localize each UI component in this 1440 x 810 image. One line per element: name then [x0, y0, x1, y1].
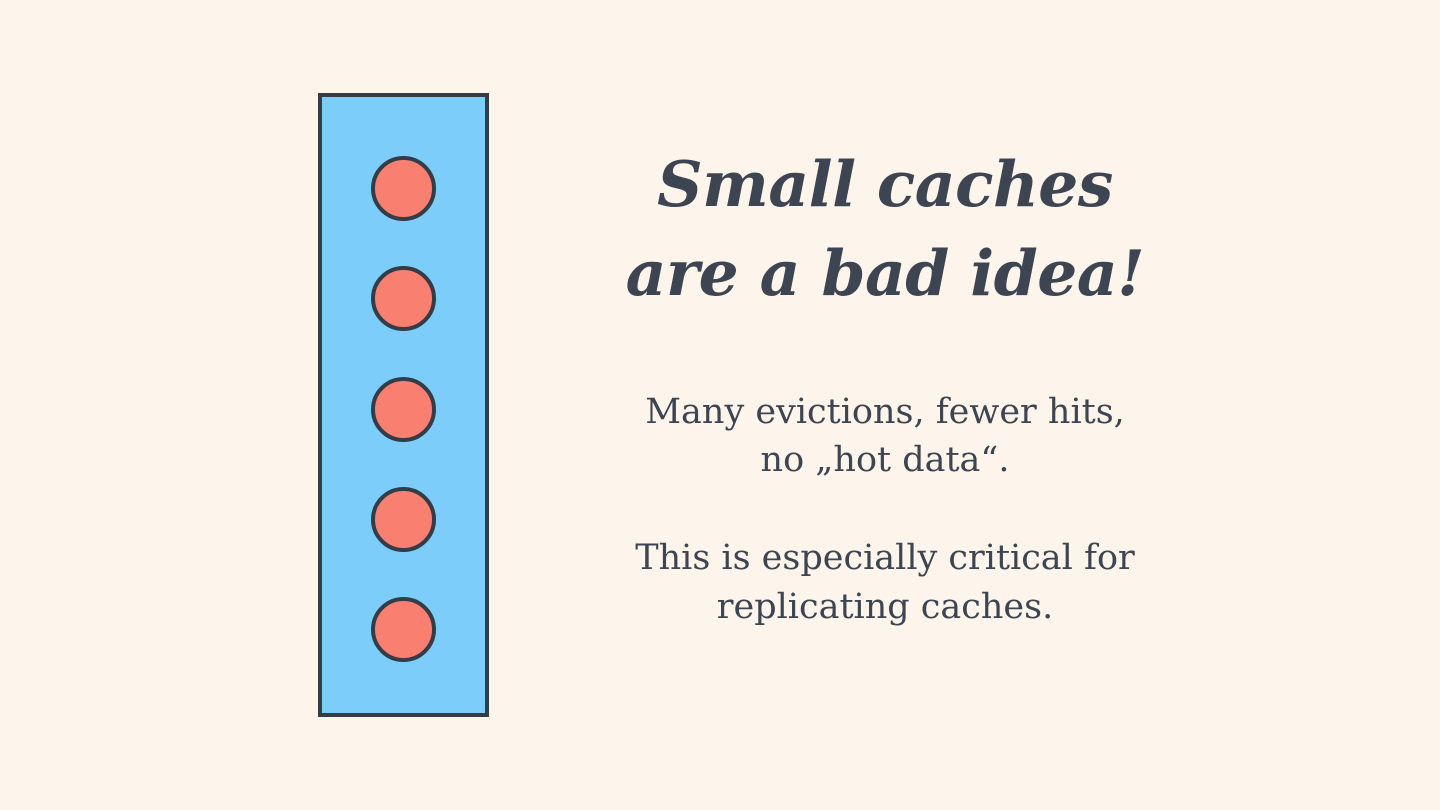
body-paragraph-1-line-1: Many evictions, fewer hits,	[585, 388, 1185, 436]
cache-entry-circle	[371, 487, 436, 552]
slide-headline: Small caches are a bad idea!	[585, 140, 1185, 318]
cache-container-box	[318, 93, 489, 717]
small-cache-illustration	[318, 93, 489, 717]
body-paragraph-2-line-2: replicating caches.	[585, 583, 1185, 631]
slide-canvas: Small caches are a bad idea! Many evicti…	[0, 0, 1440, 810]
slide-body-copy: Many evictions, fewer hits, no „hot data…	[585, 388, 1185, 631]
cache-entry-circle	[371, 266, 436, 331]
body-paragraph-1-line-2: no „hot data“.	[585, 436, 1185, 484]
cache-entry-circle	[371, 156, 436, 221]
cache-entry-circle	[371, 597, 436, 662]
cache-entry-circle	[371, 377, 436, 442]
body-paragraph-2-line-1: This is especially critical for	[585, 534, 1185, 582]
body-paragraph-2: This is especially critical for replicat…	[585, 534, 1185, 631]
headline-line-1: Small caches	[585, 140, 1185, 229]
body-paragraph-1: Many evictions, fewer hits, no „hot data…	[585, 388, 1185, 485]
headline-line-2: are a bad idea!	[585, 229, 1185, 318]
slide-text-column: Small caches are a bad idea! Many evicti…	[585, 140, 1185, 631]
